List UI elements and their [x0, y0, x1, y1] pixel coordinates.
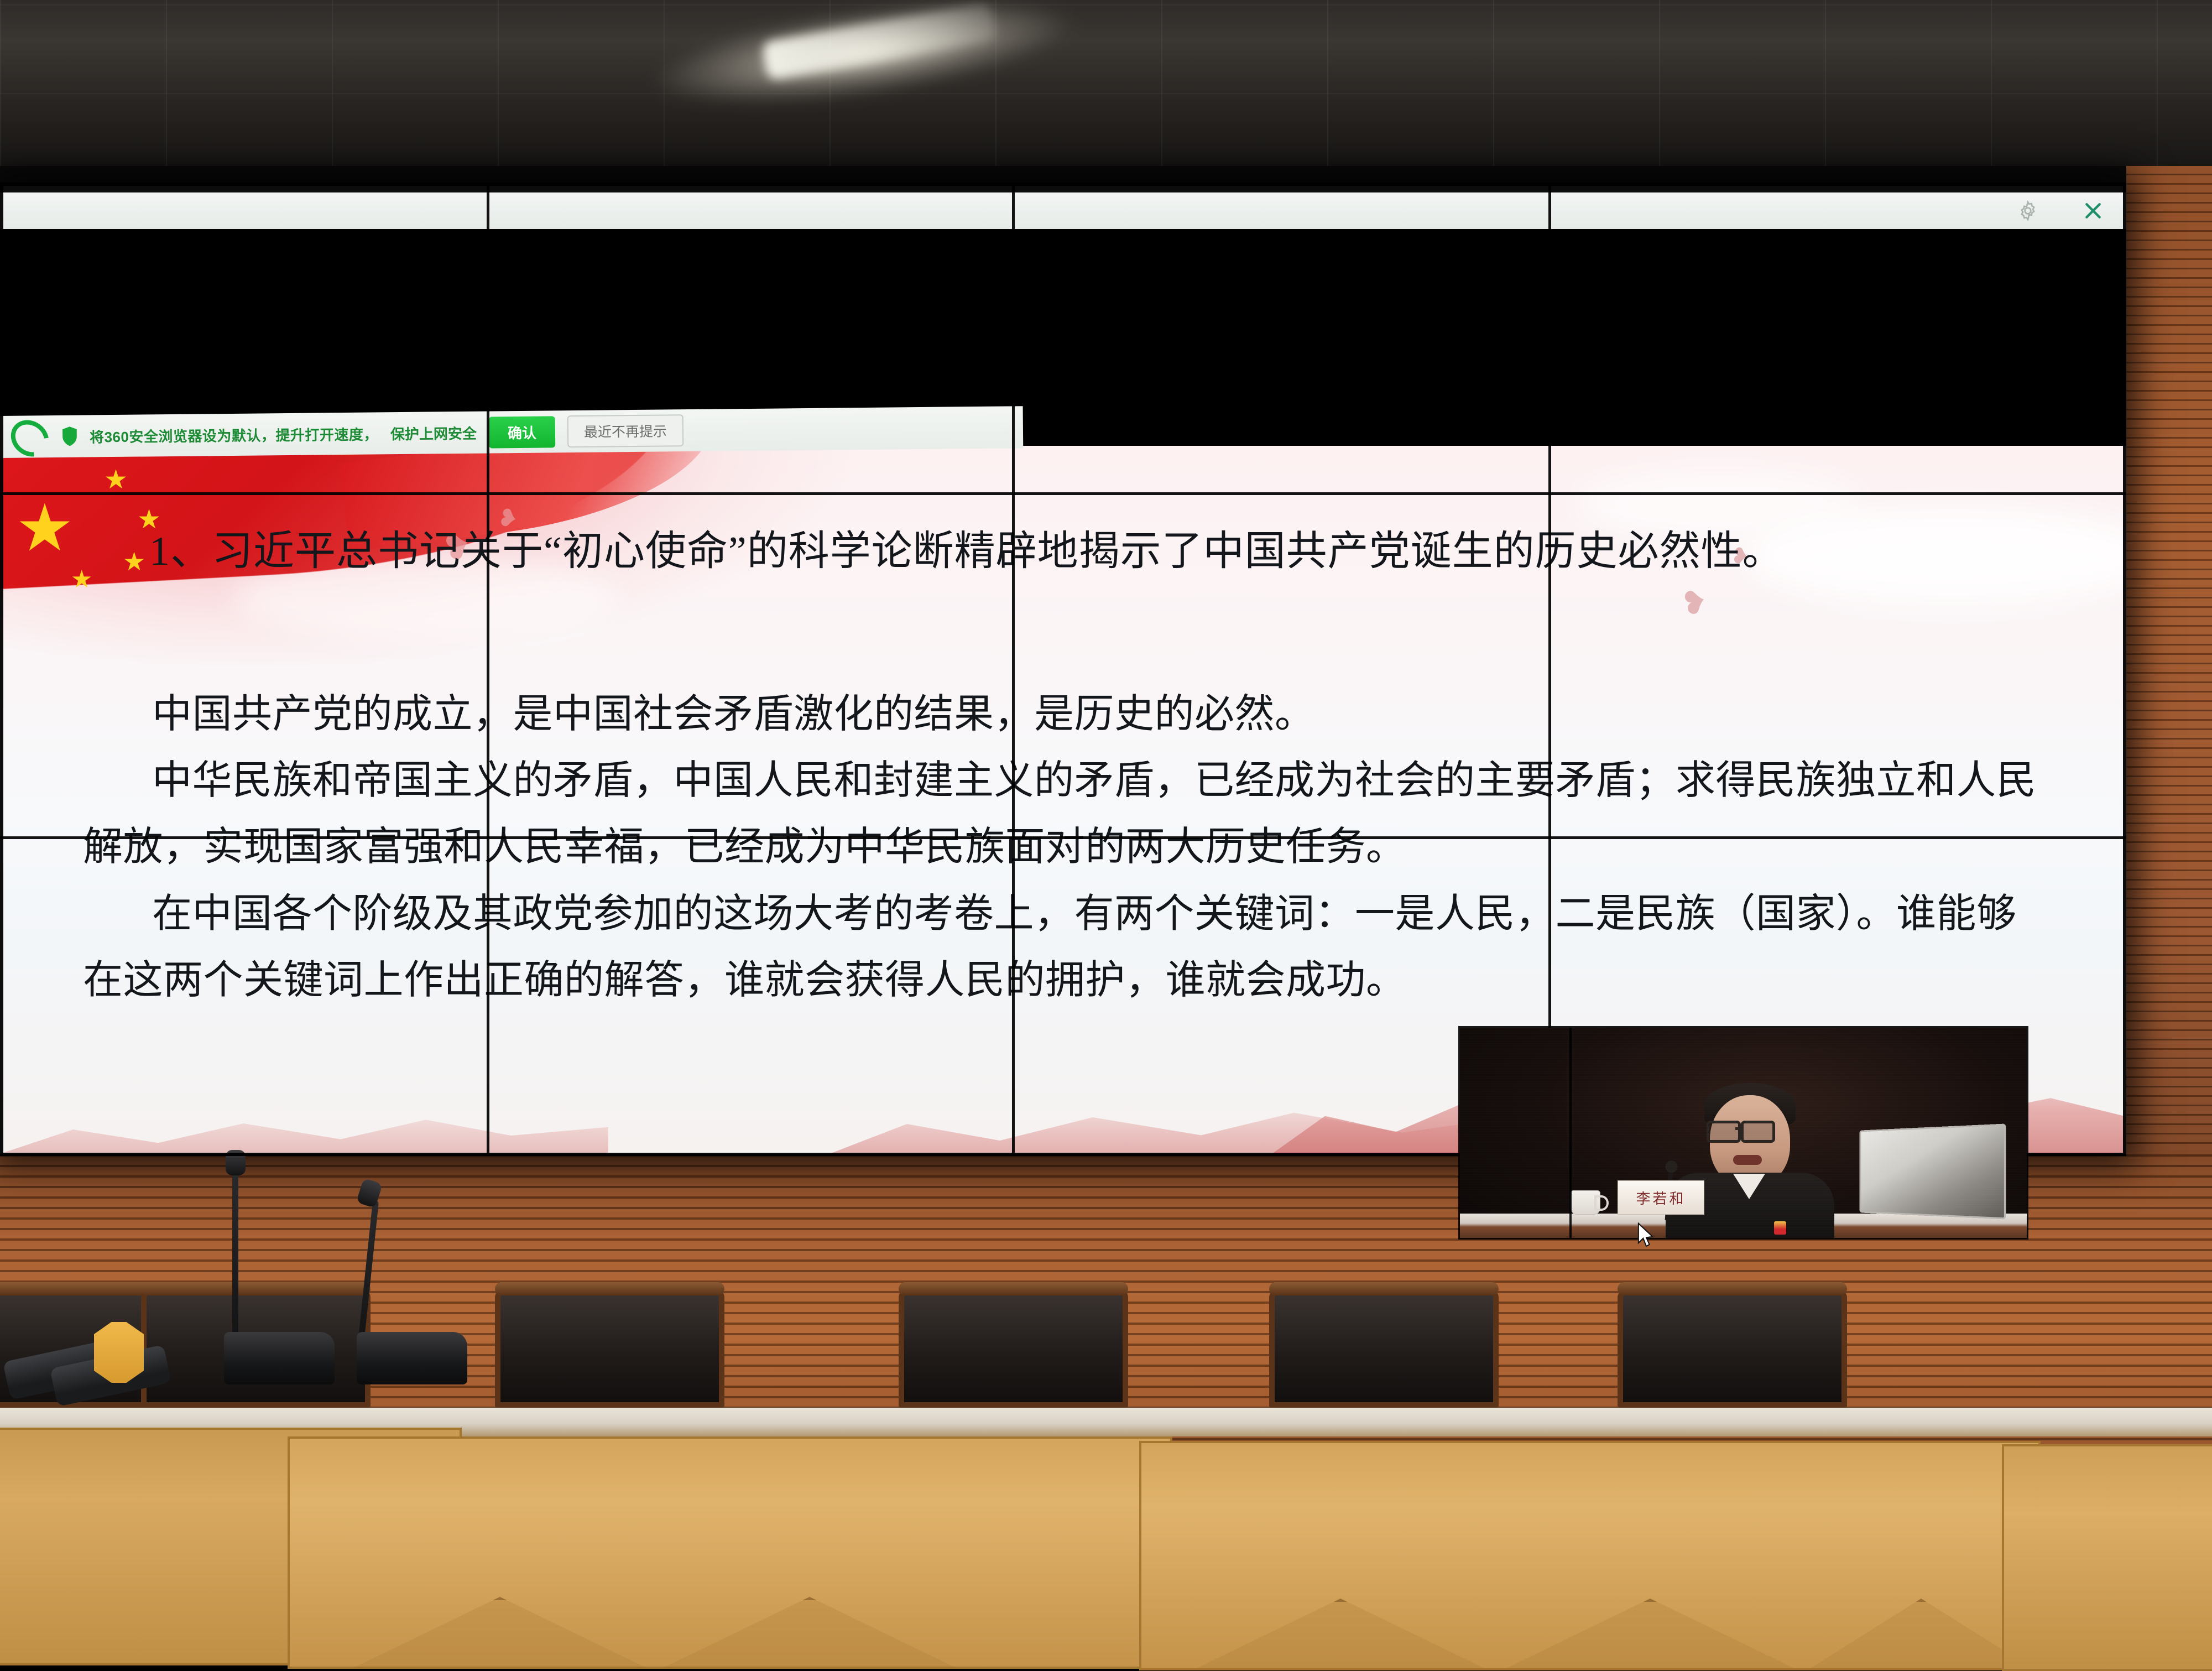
chair-crest	[1269, 1282, 1499, 1295]
confirm-button[interactable]: 确认	[489, 416, 556, 448]
chair	[495, 1289, 724, 1408]
slide-paragraph: 中国共产党的成立，是中国社会矛盾激化的结果，是历史的必然。	[83, 681, 2052, 747]
chair-back	[495, 1289, 724, 1408]
chair-back	[1618, 1289, 1847, 1408]
slide-paragraph: 在中国各个阶级及其政党参加的这场大考的考卷上，有两个关键词：一是人民，二是民族（…	[83, 881, 2052, 1013]
wall-seam-horizontal	[0, 836, 2126, 839]
desk-panel	[288, 1436, 1172, 1669]
360-browser-logo-icon	[4, 413, 56, 464]
slide-paragraph-text: 中华民族和帝国主义的矛盾，中国人民和封建主义的矛盾，已经成为社会的主要矛盾；求得…	[83, 758, 2037, 869]
desk-chevron	[356, 1597, 644, 1667]
desk-panel	[2002, 1444, 2212, 1671]
chair	[1618, 1289, 1847, 1408]
wall-seam-vertical	[1548, 183, 1551, 1156]
video-scanlines	[1460, 1028, 2027, 1238]
wood-wall-right	[2126, 166, 2212, 1294]
chair-crest	[1618, 1282, 1847, 1295]
window-controls	[2017, 192, 2104, 229]
slide-paragraph-text: 在中国各个阶级及其政党参加的这场大考的考卷上，有两个关键词：一是人民，二是民族（…	[83, 892, 2017, 1002]
chair-crest	[899, 1282, 1128, 1295]
slide-heading: 1、习近平总书记关于“初心使命”的科学论断精辟地揭示了中国共产党诞生的历史必然性…	[83, 519, 2052, 585]
notification-message: 将360安全浏览器设为默认，提升打开速度，	[90, 423, 378, 446]
close-icon[interactable]	[2082, 200, 2104, 222]
mouse-cursor	[1637, 1222, 1656, 1248]
desk-chevron	[1506, 1599, 1794, 1668]
slide-heading-text: 1、习近平总书记关于“初心使命”的科学论断精辟地揭示了中国共产党诞生的历史必然性…	[149, 529, 1784, 574]
chair	[1269, 1289, 1499, 1408]
conference-room: ★ ★ ★ ★ ★ ❥ ❥ ❥ ❥ 1、习近平总书记关于“初心使命”的科学论断精…	[0, 0, 2212, 1659]
chair-back	[899, 1289, 1128, 1408]
desk-object	[94, 1322, 144, 1383]
desk-chevron	[666, 1597, 953, 1667]
live-speaker-video[interactable]: 李若和	[1460, 1028, 2027, 1238]
shield-icon	[62, 426, 77, 447]
ceiling-tile-grid	[0, 0, 2212, 183]
slide-body: 中国共产党的成立，是中国社会矛盾激化的结果，是历史的必然。 中华民族和帝国主义的…	[83, 681, 2052, 1013]
browser-chrome-bar	[0, 192, 2126, 229]
ceiling	[0, 0, 2212, 183]
slide-paragraph: 中华民族和帝国主义的矛盾，中国人民和封建主义的矛盾，已经成为社会的主要矛盾；求得…	[83, 747, 2052, 880]
wall-seam-vertical	[1012, 183, 1015, 1156]
wall-seam-horizontal	[0, 492, 2126, 495]
microphone-gooseneck	[232, 1167, 238, 1350]
desk-panel	[1139, 1441, 2041, 1670]
microphone-capsule	[226, 1150, 246, 1175]
wall-seam-vertical	[487, 183, 489, 1156]
chair-crest	[141, 1282, 371, 1295]
desk-chevron	[1197, 1599, 1484, 1668]
chair-back	[1269, 1289, 1499, 1408]
slide-paragraph-text: 中国共产党的成立，是中国社会矛盾激化的结果，是历史的必然。	[152, 692, 1315, 736]
chair-crest	[495, 1282, 724, 1295]
gear-icon[interactable]	[2017, 200, 2039, 222]
video-wall-display: ★ ★ ★ ★ ★ ❥ ❥ ❥ ❥ 1、习近平总书记关于“初心使命”的科学论断精…	[0, 183, 2126, 1156]
microphone-base	[224, 1332, 335, 1384]
notification-message-2: 保护上网安全	[390, 422, 477, 443]
chair	[899, 1289, 1128, 1408]
dismiss-button[interactable]: 最近不再提示	[567, 414, 684, 447]
microphone-base	[357, 1332, 467, 1384]
video-wall-seam	[1569, 1028, 1572, 1238]
conference-desk	[0, 1408, 2212, 1659]
desk-chevron	[1811, 1599, 2032, 1668]
